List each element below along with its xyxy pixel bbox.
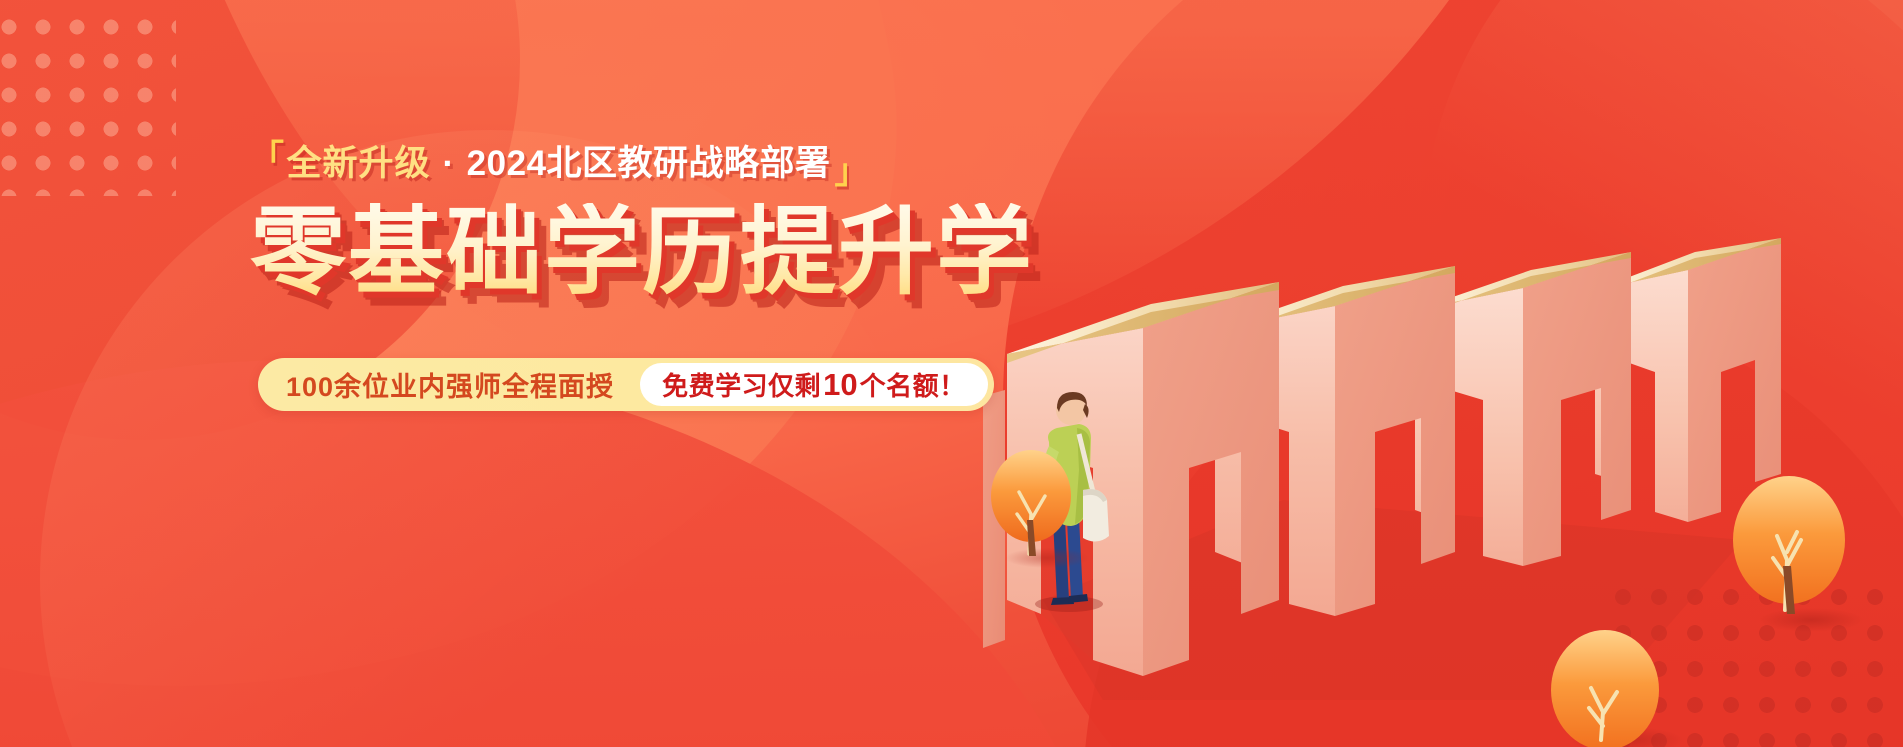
books-illustration xyxy=(983,0,1903,747)
copy-block: 「 全新升级 · 2024北区教研战略部署 」 零基础学历提升学霸班 xyxy=(250,146,1030,304)
dot-grid-top-left-icon xyxy=(0,18,176,196)
page-title: 零基础学历提升学霸班 xyxy=(250,203,1030,304)
bracket-open-icon: 「 xyxy=(250,141,285,175)
subtitle-white-text: 2024北区教研战略部署 xyxy=(467,146,831,181)
subtitle-gold-text: 全新升级 xyxy=(287,146,431,181)
tree-right xyxy=(1733,476,1863,632)
highlights-pill: 100余位业内强师全程面授 免费学习仅剩 10 个名额！ xyxy=(258,358,994,411)
seats-remaining-badge[interactable]: 免费学习仅剩 10 个名额！ xyxy=(640,363,988,406)
subtitle-line: 「 全新升级 · 2024北区教研战略部署 」 xyxy=(250,146,1030,181)
promo-banner: 「 全新升级 · 2024北区教研战略部署 」 零基础学历提升学霸班 100余位… xyxy=(0,0,1903,747)
pill-left-label: 100余位业内强师全程面授 xyxy=(286,365,640,404)
seats-prefix-label: 免费学习仅剩 xyxy=(662,366,821,403)
seats-count: 10 xyxy=(821,367,859,403)
tree-center xyxy=(1551,630,1683,747)
subtitle-separator-icon: · xyxy=(443,146,455,181)
tree-left xyxy=(985,440,1095,570)
seats-suffix-label: 个名额！ xyxy=(860,366,966,403)
bracket-close-icon: 」 xyxy=(835,155,870,189)
